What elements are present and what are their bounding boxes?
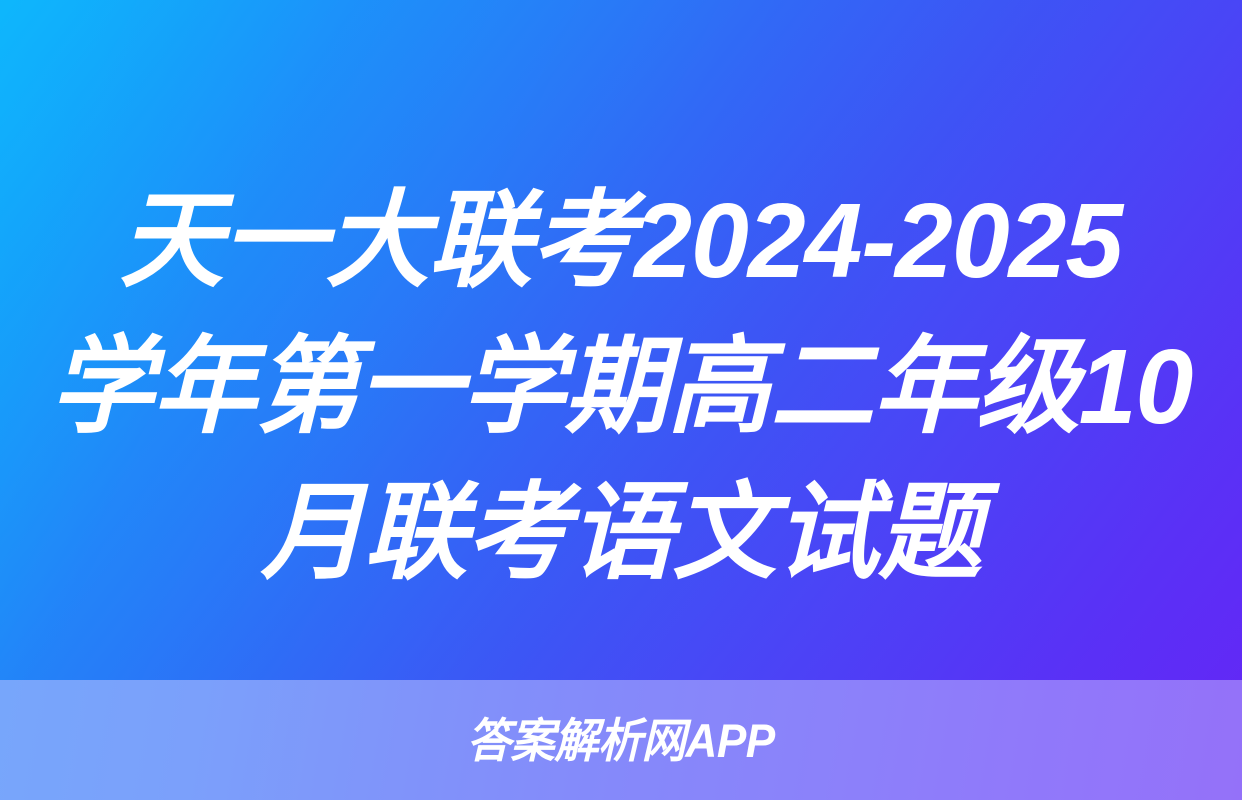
poster-canvas: 天一大联考2024-2025 学年第一学期高二年级10 月联考语文试题 答案解析…	[0, 0, 1242, 800]
title-line-1: 天一大联考2024-2025	[38, 168, 1204, 314]
page-title: 天一大联考2024-2025 学年第一学期高二年级10 月联考语文试题	[0, 168, 1242, 606]
footer-band: 答案解析网APP	[0, 680, 1242, 800]
app-watermark-label: 答案解析网APP	[467, 717, 775, 764]
title-line-2: 学年第一学期高二年级10	[38, 314, 1204, 460]
title-line-3: 月联考语文试题	[38, 460, 1204, 606]
